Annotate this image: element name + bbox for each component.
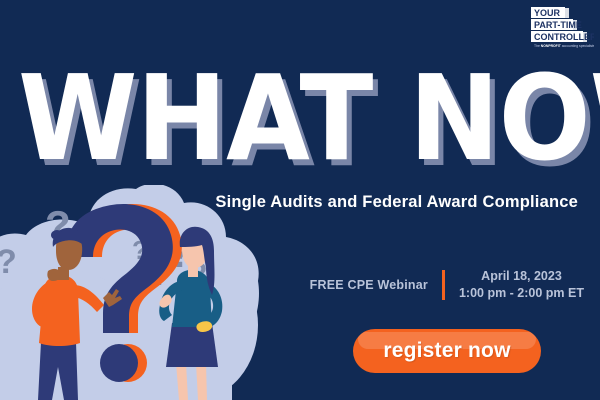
webinar-date: April 18, 2023 xyxy=(459,268,584,285)
small-question-marks: ? ? ? ? ? ? xyxy=(0,202,208,292)
svg-text:?: ? xyxy=(188,256,208,292)
svg-text:The NONPROFIT accounting speci: The NONPROFIT accounting specialists xyxy=(534,44,594,48)
svg-text:?: ? xyxy=(45,202,71,249)
webinar-promo-banner: ? ? ? ? ? ? xyxy=(0,0,600,400)
cloud-shape xyxy=(0,185,259,400)
svg-text:?: ? xyxy=(168,232,192,276)
page-title: WHAT NOW? xyxy=(18,63,599,173)
register-now-label: register now xyxy=(383,339,510,362)
person-right xyxy=(159,227,222,400)
giant-question-mark xyxy=(65,204,173,382)
vertical-divider xyxy=(442,270,445,300)
svg-text:?: ? xyxy=(132,235,148,265)
headline-block: WHAT NOW? xyxy=(18,63,588,173)
register-now-button[interactable]: register now xyxy=(353,329,541,373)
logo-line-3: CONTROLLER xyxy=(534,32,594,42)
logo-line-2: PART-TIME xyxy=(534,20,582,30)
webinar-time: 1:00 pm - 2:00 pm ET xyxy=(459,285,584,302)
webinar-info-row: FREE CPE Webinar April 18, 2023 1:00 pm … xyxy=(310,268,584,302)
person-left xyxy=(32,228,122,400)
logo-tagline: The NONPROFIT accounting specialists xyxy=(534,44,594,48)
subtitle: Single Audits and Federal Award Complian… xyxy=(215,193,578,212)
svg-text:?: ? xyxy=(152,261,168,291)
free-cpe-label: FREE CPE Webinar xyxy=(310,278,428,292)
company-logo[interactable]: YOUR PART-TIME CONTROLLER The NONPROFIT … xyxy=(528,5,594,49)
giant-question-mark-shadow xyxy=(74,204,182,382)
svg-text:?: ? xyxy=(0,243,17,281)
webinar-datetime: April 18, 2023 1:00 pm - 2:00 pm ET xyxy=(459,268,584,302)
illustration-two-people-with-question-mark: ? ? ? ? ? ? xyxy=(0,185,300,400)
logo-line-1: YOUR xyxy=(534,8,561,18)
